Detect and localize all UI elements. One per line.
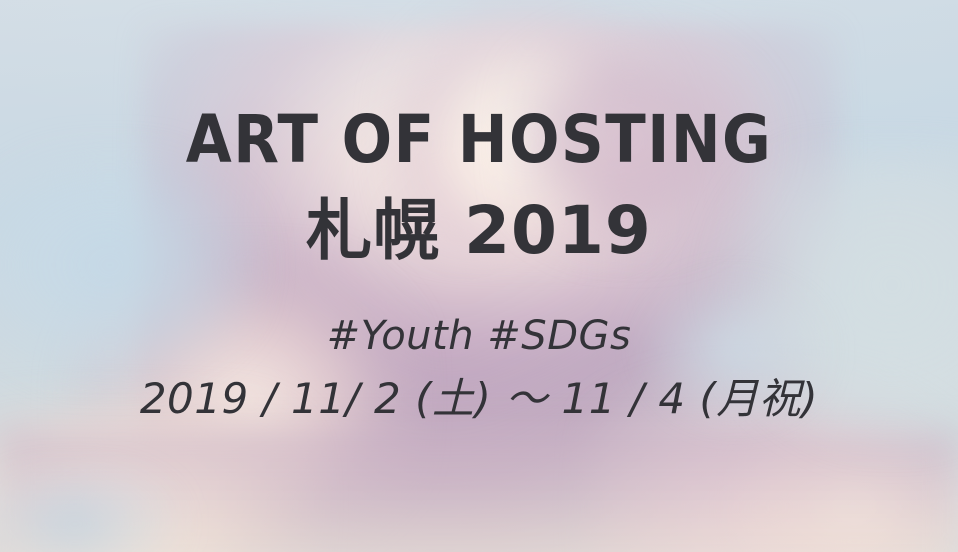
poster-tagline: #Youth #SDGs [0,316,958,356]
poster-title-line-2: 札幌 2019 [0,198,958,264]
poster-title-line-1: ART OF HOSTING [0,107,958,173]
event-poster-banner: ART OF HOSTING 札幌 2019 #Youth #SDGs 2019… [0,0,958,552]
poster-dateline: 2019 / 11/ 2 (土) 〜 11 / 4 (月祝) [0,378,958,420]
poster-text-stack: ART OF HOSTING 札幌 2019 #Youth #SDGs 2019… [0,0,958,552]
